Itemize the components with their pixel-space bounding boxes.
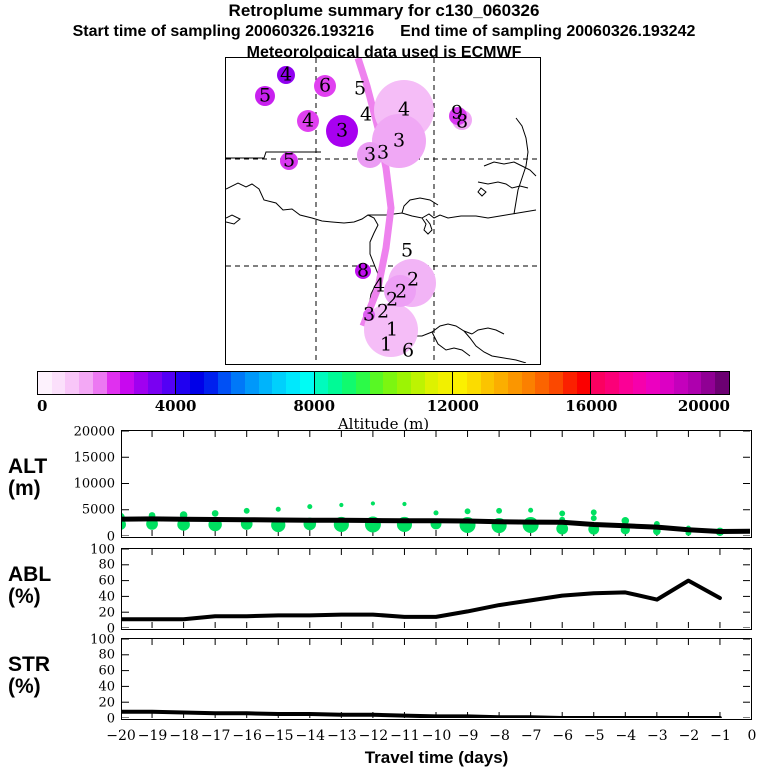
xaxis-title: Travel time (days) [121, 748, 752, 768]
colorbar-segment [563, 372, 577, 394]
colorbar-gradient [37, 371, 730, 395]
x-tick-label: −13 [327, 728, 357, 744]
colorbar-segment [175, 372, 190, 394]
map-bubble [280, 152, 298, 170]
colorbar-segment [148, 372, 162, 394]
y-tick-label: 20 [59, 695, 115, 710]
scatter-marker [465, 508, 471, 514]
scatter-marker [523, 517, 539, 533]
colorbar-tick-label: 4000 [155, 397, 197, 415]
colorbar-segment [660, 372, 674, 394]
y-tick-label: 60 [59, 664, 115, 679]
colorbar-segment [383, 372, 397, 394]
colorbar-tick-label: 12000 [427, 397, 479, 415]
panel-label-alt: ALT(m) [8, 456, 47, 500]
panel-label-str: STR(%) [8, 654, 50, 698]
colorbar-segment [38, 372, 52, 394]
colorbar-segment [314, 372, 329, 394]
colorbar-segment [688, 372, 702, 394]
sampling-time-row: Start time of sampling 20060326.193216 E… [0, 21, 768, 42]
colorbar-segment [508, 372, 522, 394]
chart-svg-str [122, 639, 750, 718]
chart-panel-abl [121, 548, 752, 630]
x-tick-label: −20 [106, 728, 136, 744]
x-tick-label: −11 [390, 728, 420, 744]
panel-label-line1: STR [8, 654, 50, 676]
scatter-marker [591, 509, 597, 515]
map-bubble [297, 110, 319, 132]
scatter-marker [371, 501, 375, 505]
map-bubble [314, 75, 336, 97]
map-bubble [357, 142, 383, 168]
scatter-marker [276, 507, 281, 512]
y-tick-label: 0 [59, 711, 115, 726]
colorbar-segment [204, 372, 218, 394]
y-tick-label: 80 [59, 558, 115, 573]
y-tick-label: 100 [59, 632, 115, 647]
x-tick-label: −7 [521, 728, 542, 744]
map-bubble [255, 86, 275, 106]
colorbar-segment [522, 372, 536, 394]
map-bubble [355, 263, 371, 279]
colorbar-segment [605, 372, 619, 394]
colorbar-segment [107, 372, 121, 394]
colorbar-segment [162, 372, 176, 394]
x-tick-label: −12 [359, 728, 389, 744]
colorbar-segment [79, 372, 93, 394]
colorbar-segment [425, 372, 439, 394]
chart-svg-alt [122, 431, 750, 536]
chart-svg-abl [122, 549, 750, 628]
scatter-marker [591, 515, 597, 521]
x-tick-label: −6 [552, 728, 573, 744]
colorbar-segment [397, 372, 411, 394]
map-bubble [363, 309, 375, 321]
colorbar-segment [272, 372, 286, 394]
colorbar-segment [633, 372, 647, 394]
x-tick-label: −16 [232, 728, 262, 744]
x-tick-label: −8 [489, 728, 510, 744]
colorbar-segment [438, 372, 452, 394]
x-tick-label: −19 [138, 728, 168, 744]
chart-panel-str [121, 638, 752, 720]
map-bubble [326, 115, 358, 147]
y-tick-label: 10000 [59, 477, 115, 492]
colorbar-tick-label: 8000 [293, 397, 335, 415]
colorbar-segment [356, 372, 370, 394]
colorbar-segment [549, 372, 563, 394]
x-tick-label: −4 [615, 728, 636, 744]
chart-line-abl [122, 581, 720, 620]
colorbar-segment [218, 372, 232, 394]
panel-label-line2: (m) [8, 478, 47, 500]
scatter-marker [559, 510, 565, 516]
map-bubble [449, 107, 467, 125]
y-tick-label: 20000 [59, 424, 115, 439]
map-bubble [384, 275, 416, 307]
page-title: Retroplume summary for c130_060326 [0, 0, 768, 21]
colorbar-tick-label: 16000 [565, 397, 617, 415]
scatter-marker [212, 510, 219, 517]
colorbar-segment [134, 372, 148, 394]
chart-ticks [122, 639, 750, 718]
colorbar-tick-label: 20000 [678, 397, 730, 415]
colorbar-segment [452, 372, 467, 394]
colorbar-segment [646, 372, 660, 394]
y-tick-label: 60 [59, 574, 115, 589]
colorbar-segment [370, 372, 384, 394]
colorbar-segment [231, 372, 245, 394]
colorbar-segment [411, 372, 425, 394]
x-tick-label: −1 [710, 728, 731, 744]
colorbar-segment [481, 372, 495, 394]
colorbar-segment [590, 372, 605, 394]
panel-label-abl: ABL(%) [8, 564, 51, 608]
x-tick-label: −5 [584, 728, 605, 744]
y-tick-label: 80 [59, 648, 115, 663]
colorbar-segment [259, 372, 273, 394]
y-tick-label: 20 [59, 605, 115, 620]
chart-line-str [122, 712, 720, 718]
colorbar-segment [300, 372, 314, 394]
y-tick-label: 15000 [59, 450, 115, 465]
colorbar-segment [120, 372, 134, 394]
colorbar-segment [674, 372, 688, 394]
retroplume-map: 4655443498333558422232116 [225, 57, 541, 365]
scatter-marker [244, 508, 250, 514]
map-bubble [277, 66, 295, 84]
x-tick-label: −14 [296, 728, 326, 744]
colorbar-segment [467, 372, 481, 394]
panel-label-line1: ABL [8, 564, 51, 586]
y-tick-label: 5000 [59, 503, 115, 518]
colorbar-segment [328, 372, 342, 394]
x-tick-label: −9 [458, 728, 479, 744]
colorbar-segment [577, 372, 591, 394]
panel-label-line2: (%) [8, 676, 50, 698]
y-tick-label: 40 [59, 679, 115, 694]
altitude-colorbar: 040008000120001600020000 Altitude (m) [37, 371, 730, 395]
colorbar-segment [245, 372, 259, 394]
scatter-marker [339, 503, 343, 507]
x-tick-label: −15 [264, 728, 294, 744]
scatter-marker [496, 508, 502, 514]
colorbar-segment [715, 372, 729, 394]
colorbar-tick-label: 0 [37, 397, 47, 415]
x-tick-label: 0 [748, 728, 757, 744]
scatter-marker [402, 502, 406, 506]
colorbar-segment [93, 372, 107, 394]
colorbar-segment [535, 372, 549, 394]
y-tick-label: 100 [59, 542, 115, 557]
x-tick-label: −10 [422, 728, 452, 744]
colorbar-segment [190, 372, 204, 394]
x-tick-label: −17 [201, 728, 231, 744]
x-tick-label: −18 [169, 728, 199, 744]
colorbar-segment [286, 372, 300, 394]
x-tick-label: −2 [679, 728, 700, 744]
start-time-label: Start time of sampling 20060326.193216 [73, 21, 375, 42]
colorbar-segment [701, 372, 715, 394]
colorbar-segment [342, 372, 356, 394]
colorbar-segment [619, 372, 633, 394]
y-tick-label: 40 [59, 589, 115, 604]
x-tick-label: −3 [647, 728, 668, 744]
chart-panel-alt [121, 430, 752, 538]
title-block: Retroplume summary for c130_060326 Start… [0, 0, 768, 63]
scatter-marker [528, 508, 533, 513]
colorbar-segment [494, 372, 508, 394]
colorbar-segment [52, 372, 66, 394]
scatter-marker [307, 504, 312, 509]
panel-label-line1: ALT [8, 456, 47, 478]
end-time-label: End time of sampling 20060326.193242 [400, 21, 695, 42]
scatter-marker [433, 510, 438, 515]
colorbar-segment [65, 372, 79, 394]
panel-label-line2: (%) [8, 586, 51, 608]
